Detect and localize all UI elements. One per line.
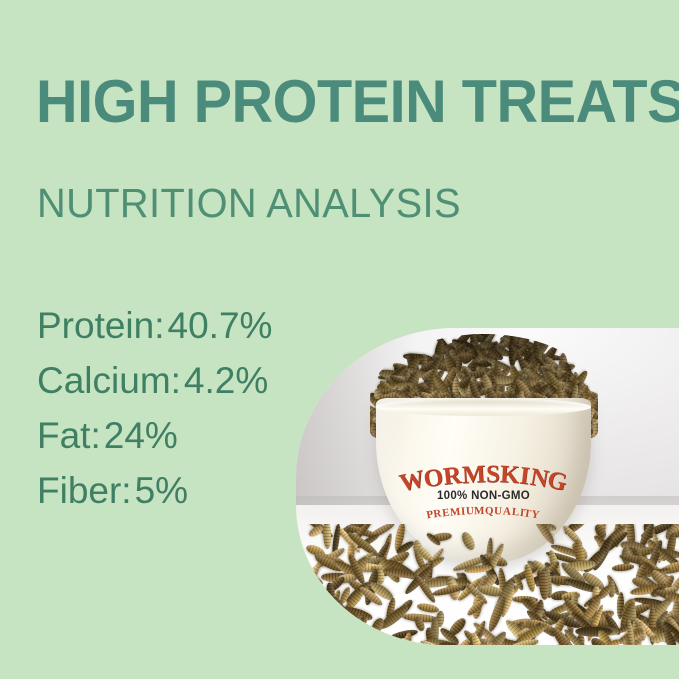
- nutrient-label: Protein:: [37, 305, 165, 346]
- larva: [296, 555, 309, 570]
- page-subtitle: NUTRITION ANALYSIS: [37, 183, 461, 224]
- infographic-card: HIGH PROTEIN TREATS NUTRITION ANALYSIS P…: [0, 0, 679, 679]
- larva: [382, 566, 417, 579]
- larva: [612, 563, 634, 572]
- page-title: HIGH PROTEIN TREATS: [36, 72, 631, 132]
- larvae-scatter: [296, 524, 679, 645]
- nutrient-value: 4.2%: [184, 360, 268, 401]
- list-item: Protein:40.7%: [37, 298, 357, 353]
- nutrient-label: Fat:: [37, 415, 101, 456]
- larva: [322, 524, 331, 549]
- list-item: Fat:24%: [37, 408, 357, 463]
- nutrition-list: Protein:40.7% Calcium:4.2% Fat:24% Fiber…: [37, 298, 357, 518]
- nutrient-value: 24%: [104, 415, 178, 456]
- nutrient-value: 40.7%: [168, 305, 273, 346]
- list-item: Calcium:4.2%: [37, 353, 357, 408]
- bowl-rim: [376, 398, 591, 416]
- larva: [417, 602, 440, 615]
- larva: [460, 530, 477, 551]
- nutrient-label: Fiber:: [37, 470, 132, 511]
- larva: [307, 524, 325, 539]
- list-item: Fiber:5%: [37, 463, 357, 518]
- nutrient-label: Calcium:: [37, 360, 181, 401]
- bottom-margin-strip: [0, 645, 679, 679]
- nutrient-value: 5%: [135, 470, 188, 511]
